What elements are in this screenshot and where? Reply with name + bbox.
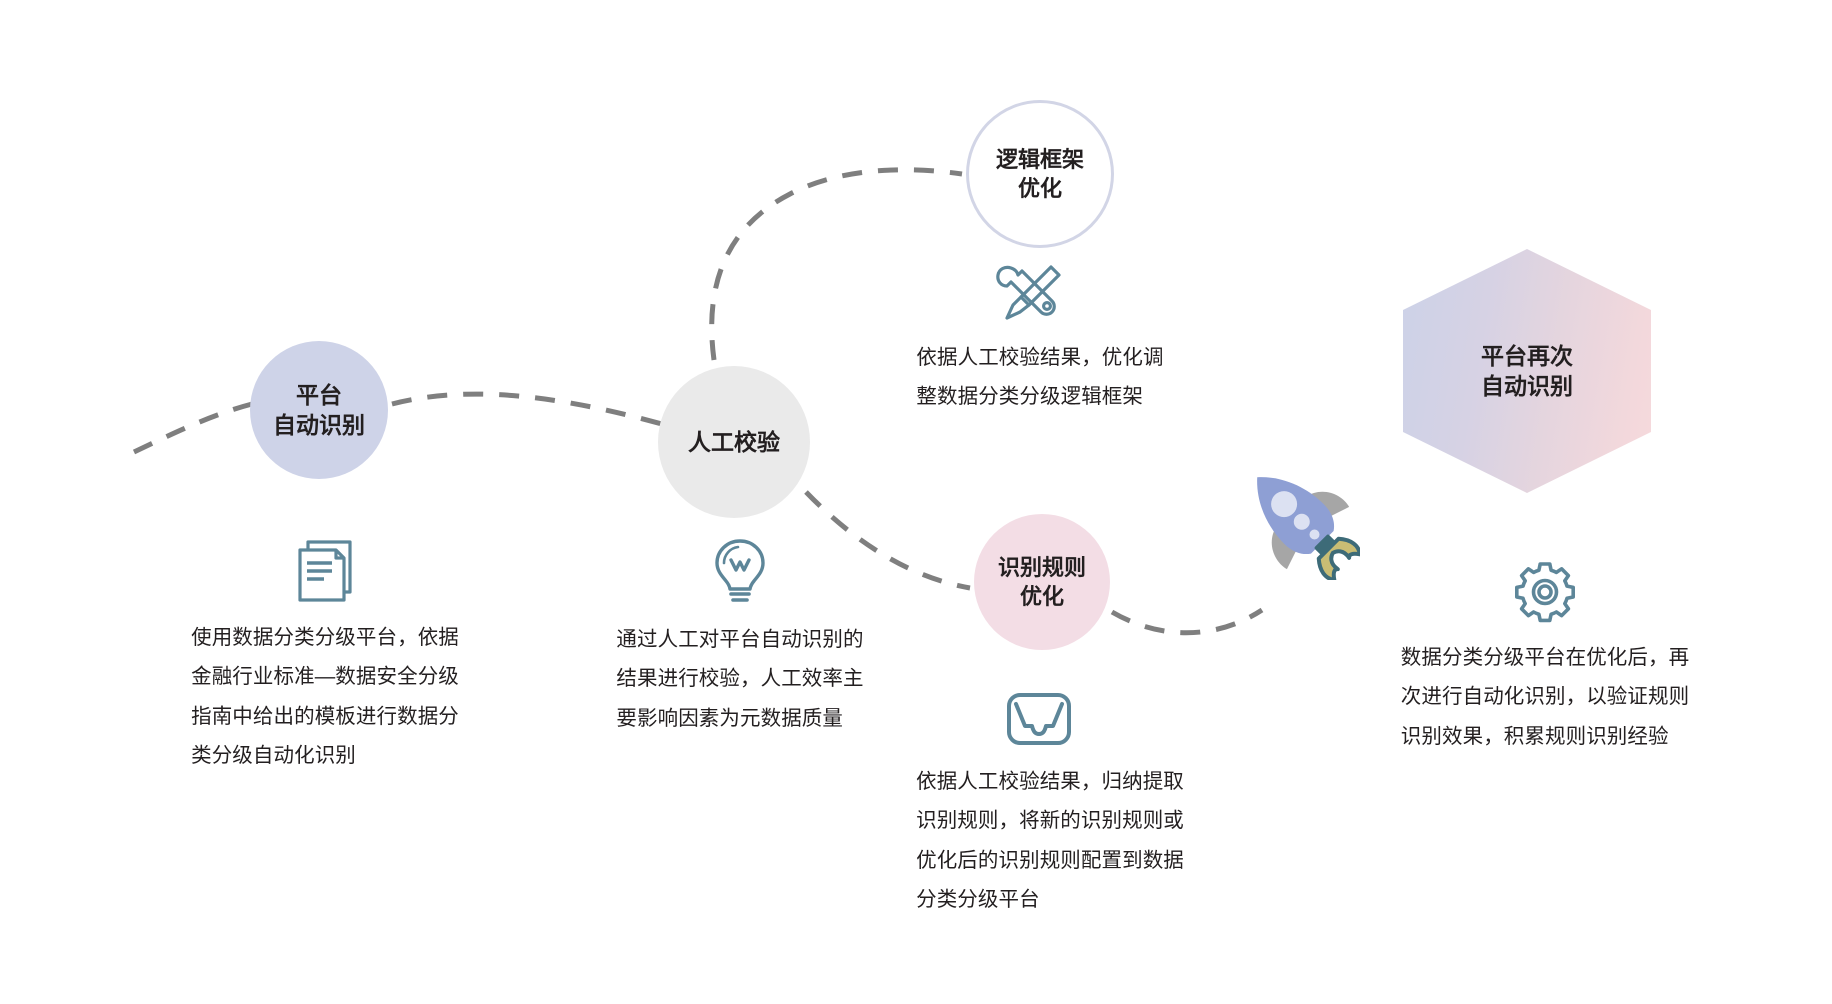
node-label-line: 平台	[296, 380, 342, 410]
description-block-tools: 依据人工校验结果，优化调 整数据分类分级逻辑框架	[890, 262, 1190, 417]
lightbulb-icon	[711, 536, 769, 606]
description-text: 通过人工对平台自动识别的 结果进行校验，人工效率主 要影响因素为元数据质量	[616, 620, 863, 738]
node-label-line: 优化	[1018, 174, 1062, 203]
description-text: 使用数据分类分级平台，依据 金融行业标准—数据安全分级 指南中给出的模板进行数据…	[191, 618, 459, 775]
node-recognition-rule-optimization[interactable]: 识别规则 优化	[974, 514, 1110, 650]
node-label-line: 人工校验	[688, 427, 780, 457]
tools-icon	[995, 262, 1065, 324]
description-block-inbox: 依据人工校验结果，归纳提取 识别规则，将新的识别规则或 优化后的识别规则配置到数…	[890, 690, 1210, 919]
node-logic-framework-optimization[interactable]: 逻辑框架 优化	[966, 100, 1114, 248]
flow-diagram-canvas: 平台 自动识别 人工校验 逻辑框架 优化 识别规则 优化 平台再次 自动识别	[0, 0, 1832, 1004]
connector-platform-to-manual	[392, 394, 662, 424]
description-text: 数据分类分级平台在优化后，再 次进行自动化识别，以验证规则 识别效果，积累规则识…	[1401, 638, 1689, 756]
connector-entry-to-platform	[134, 404, 252, 452]
node-platform-auto-recognition[interactable]: 平台 自动识别	[250, 341, 388, 479]
description-block-gear: 数据分类分级平台在优化后，再 次进行自动化识别，以验证规则 识别效果，积累规则识…	[1370, 560, 1720, 756]
node-platform-re-recognition[interactable]: 平台再次 自动识别	[1403, 249, 1651, 493]
description-block-lightbulb: 通过人工对平台自动识别的 结果进行校验，人工效率主 要影响因素为元数据质量	[590, 536, 890, 738]
description-block-documents: 使用数据分类分级平台，依据 金融行业标准—数据安全分级 指南中给出的模板进行数据…	[164, 536, 486, 775]
node-label-line: 自动识别	[1481, 371, 1573, 401]
node-label-line: 识别规则	[998, 553, 1086, 582]
node-label-line: 自动识别	[273, 410, 365, 440]
rocket-icon	[1228, 448, 1360, 580]
description-text: 依据人工校验结果，优化调 整数据分类分级逻辑框架	[916, 338, 1163, 417]
description-text: 依据人工校验结果，归纳提取 识别规则，将新的识别规则或 优化后的识别规则配置到数…	[916, 762, 1184, 919]
connector-rule-to-hexagon	[1112, 610, 1262, 633]
node-label-line: 优化	[1020, 582, 1064, 611]
node-manual-check[interactable]: 人工校验	[658, 366, 810, 518]
gear-icon	[1513, 560, 1577, 624]
inbox-tray-icon	[1005, 690, 1073, 748]
node-label-line: 逻辑框架	[996, 145, 1084, 174]
node-label-line: 平台再次	[1481, 341, 1573, 371]
documents-icon	[294, 536, 356, 604]
